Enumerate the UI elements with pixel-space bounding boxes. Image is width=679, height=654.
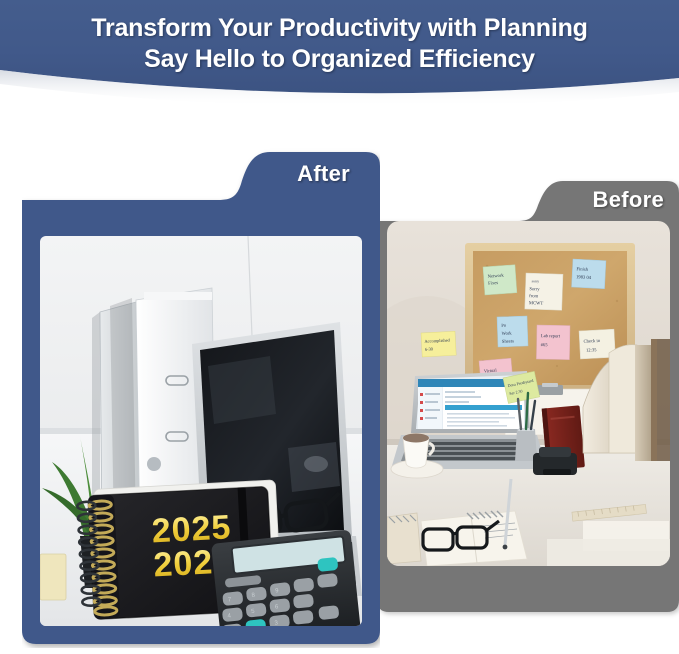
svg-text:Fixes: Fixes [488,280,498,286]
banner-heading: Transform Your Productivity with Plannin… [0,13,679,75]
svg-text:1983 04: 1983 04 [576,274,592,280]
promo-graphic: Transform Your Productivity with Plannin… [0,0,679,654]
svg-text:Sorry: Sorry [529,286,540,291]
svg-text:#65: #65 [541,342,549,347]
banner-heading-line2: Say Hello to Organized Efficiency [0,44,679,75]
svg-text:Po: Po [501,323,507,328]
svg-text:from: from [529,293,539,298]
svg-text:Finish: Finish [576,266,588,272]
banner-heading-line1: Transform Your Productivity with Plannin… [91,14,588,42]
svg-text:Check in: Check in [583,338,600,344]
cluttered-desk-illustration: NetworkFixes sorrySorry fromMCWT Finish1… [387,221,670,566]
svg-text:MCWT: MCWT [529,300,544,306]
svg-text:12:35: 12:35 [586,347,597,353]
before-panel: Before [377,178,679,624]
svg-text:sorry: sorry [532,279,540,283]
after-panel: After [22,148,380,648]
svg-text:Sheets: Sheets [502,338,514,343]
organized-desk-photo: 2025 2026 [40,236,362,626]
after-tab-label: After [297,161,350,187]
svg-text:6-30: 6-30 [425,346,434,351]
svg-text:Lab report: Lab report [541,333,561,338]
organized-desk-illustration: 2025 2026 [40,236,362,626]
header-banner: Transform Your Productivity with Plannin… [0,0,679,112]
before-tab-label: Before [593,187,665,213]
cluttered-desk-photo: NetworkFixes sorrySorry fromMCWT Finish1… [387,221,670,566]
svg-text:Work: Work [501,330,512,335]
